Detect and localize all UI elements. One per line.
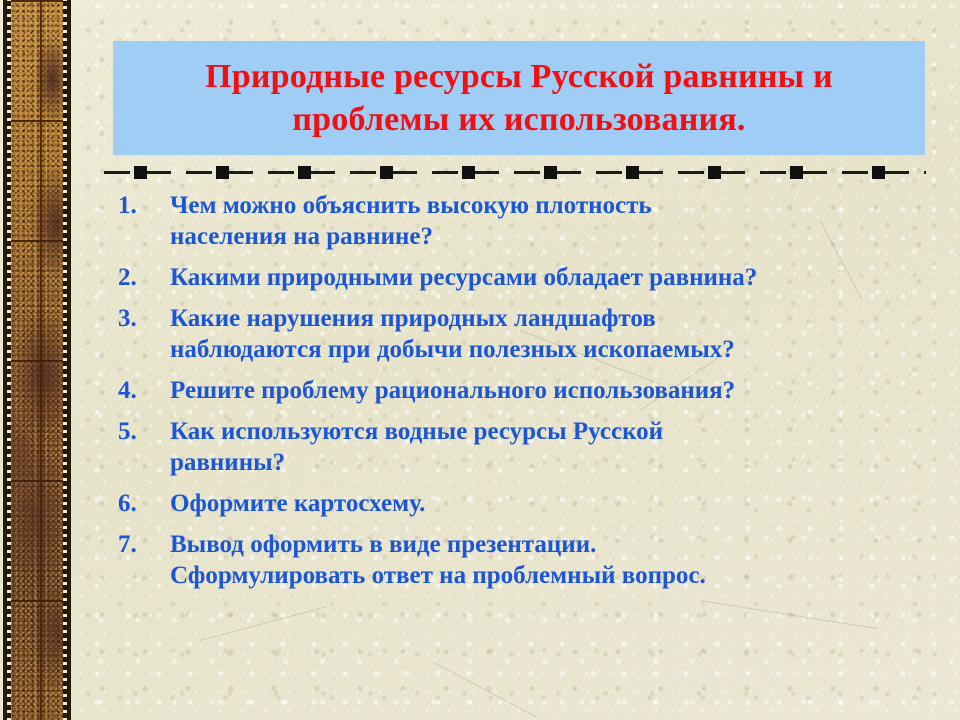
list-item-text: Как используются водные ресурсы Русской … [170, 416, 940, 478]
texture-crack [200, 606, 326, 641]
slide-title: Природные ресурсы Русской равнины и проб… [187, 55, 851, 141]
divider-square [298, 166, 311, 179]
list-item-text: Вывод оформить в виде презентации. Сформ… [170, 529, 940, 591]
list-item-text: Чем можно объяснить высокую плотность на… [170, 190, 940, 252]
list-item: 3. Какие нарушения природных ландшафтов … [104, 303, 940, 365]
list-item-text: Какие нарушения природных ландшафтов наб… [170, 303, 940, 365]
divider-square [216, 166, 229, 179]
list-item-number: 6. [104, 488, 170, 519]
border-notch-rail-right [63, 0, 67, 720]
list-item-number: 5. [104, 416, 170, 447]
list-item: 5. Как используются водные ресурсы Русск… [104, 416, 940, 478]
list-item-number: 3. [104, 303, 170, 334]
list-item-number: 4. [104, 375, 170, 406]
list-item: 7. Вывод оформить в виде презентации. Сф… [104, 529, 940, 591]
divider-square [462, 166, 475, 179]
divider-square [626, 166, 639, 179]
list-item: 1. Чем можно объяснить высокую плотность… [104, 190, 940, 252]
divider-square [872, 166, 885, 179]
list-item-number: 1. [104, 190, 170, 221]
list-item-text: Какими природными ресурсами обладает рав… [170, 262, 940, 293]
divider-square [134, 166, 147, 179]
divider-square [544, 166, 557, 179]
decorative-left-border [3, 0, 71, 720]
divider-square [708, 166, 721, 179]
dash-dot-divider [104, 166, 926, 180]
question-list: 1. Чем можно объяснить высокую плотность… [104, 190, 940, 601]
divider-square [790, 166, 803, 179]
title-banner: Природные ресурсы Русской равнины и проб… [113, 41, 925, 155]
texture-crack [430, 660, 536, 717]
texture-crack [700, 600, 878, 629]
list-item: 4. Решите проблему рационального использ… [104, 375, 940, 406]
presentation-slide: Природные ресурсы Русской равнины и проб… [0, 0, 960, 720]
list-item-number: 7. [104, 529, 170, 560]
border-notch-rail-left [7, 0, 11, 720]
divider-square [380, 166, 393, 179]
list-item: 2. Какими природными ресурсами обладает … [104, 262, 940, 293]
list-item: 6. Оформите картосхему. [104, 488, 940, 519]
list-item-text: Оформите картосхему. [170, 488, 940, 519]
list-item-number: 2. [104, 262, 170, 293]
list-item-text: Решите проблему рационального использова… [170, 375, 940, 406]
